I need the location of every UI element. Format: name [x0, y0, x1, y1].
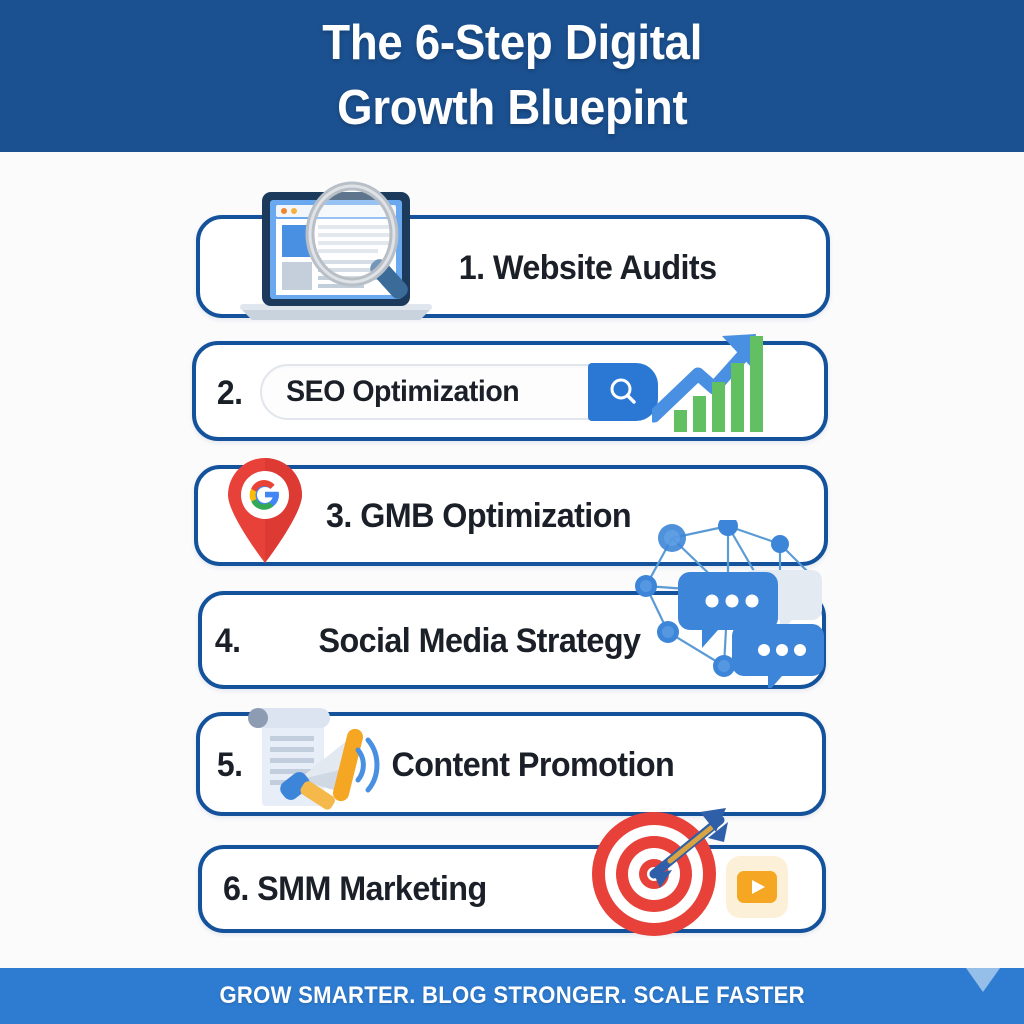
- step-3-label: 3. GMB Optimization: [326, 497, 631, 536]
- target-arrow-icon: [588, 808, 728, 938]
- page-title-line-1: The 6-Step Digital: [322, 11, 702, 76]
- step-4-number: 4.: [215, 622, 241, 661]
- page-title-line-2: Growth Bluepint: [337, 76, 687, 141]
- search-button[interactable]: [588, 363, 658, 421]
- step-2-number: 2.: [217, 374, 243, 413]
- seo-search-input-value: SEO Optimization: [286, 375, 519, 409]
- step-5-number: 5.: [217, 746, 243, 785]
- infographic-poster: The 6-Step Digital Growth Bluepint: [0, 0, 1024, 1024]
- document-megaphone-icon: [244, 702, 384, 814]
- laptop-magnifier-icon: [232, 178, 440, 326]
- google-map-pin-icon: [224, 457, 306, 565]
- step-1-label: 1. Website Audits: [459, 249, 717, 288]
- video-play-icon[interactable]: [726, 856, 788, 918]
- footer-banner: GROW SMARTER. BLOG STRONGER. SCALE FASTE…: [0, 968, 1024, 1024]
- footer-tagline: GROW SMARTER. BLOG STRONGER. SCALE FASTE…: [219, 982, 804, 1010]
- social-network-chat-icon: [628, 520, 833, 688]
- step-6-label: 6. SMM Marketing: [223, 870, 487, 909]
- step-4-label: Social Media Strategy: [318, 622, 640, 661]
- header-banner: The 6-Step Digital Growth Bluepint: [0, 0, 1024, 152]
- step-5-label: Content Promotion: [391, 746, 674, 785]
- search-icon: [606, 375, 640, 409]
- growth-chart-icon: [652, 330, 772, 438]
